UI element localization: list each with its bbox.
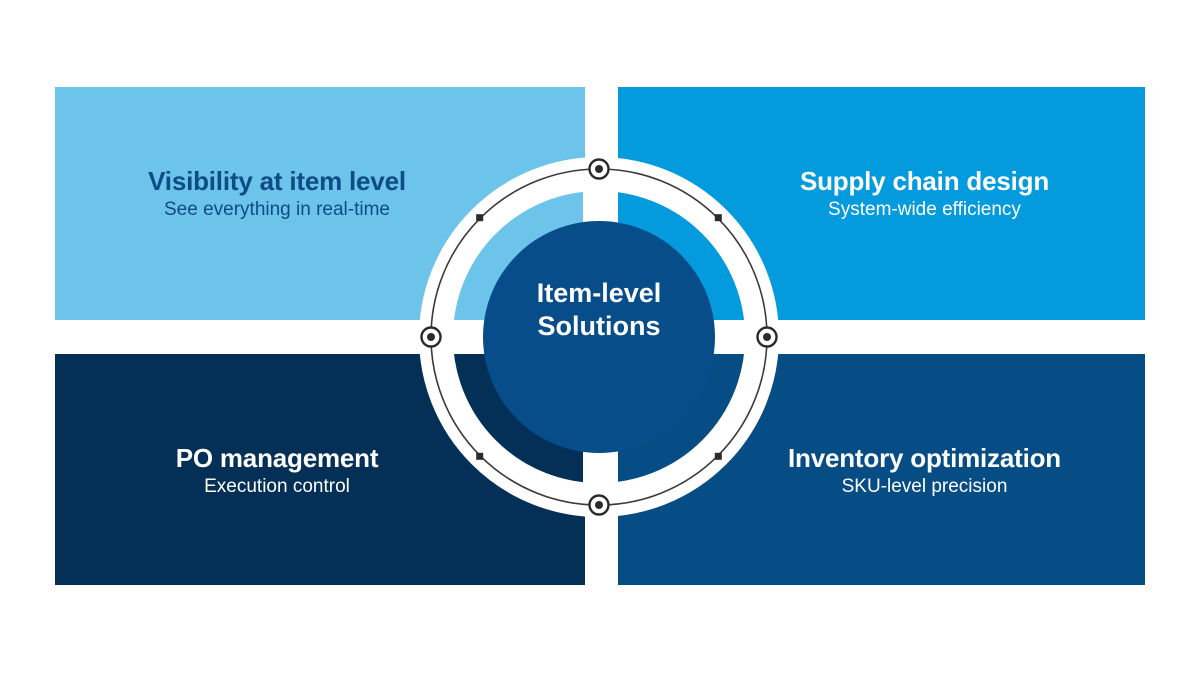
node-lower-left-icon[interactable] xyxy=(476,453,483,460)
node-lower-right-icon[interactable] xyxy=(715,453,722,460)
node-top-icon[interactable] xyxy=(590,160,609,179)
node-upper-right-icon[interactable] xyxy=(715,214,722,221)
node-upper-left-icon[interactable] xyxy=(476,214,483,221)
node-bottom-icon[interactable] xyxy=(590,496,609,515)
diagram-canvas: Visibility at item level See everything … xyxy=(0,0,1200,675)
node-right-icon[interactable] xyxy=(758,328,777,347)
hub-ring-svg xyxy=(399,137,799,537)
node-left-icon[interactable] xyxy=(422,328,441,347)
hub-circle xyxy=(483,221,715,453)
